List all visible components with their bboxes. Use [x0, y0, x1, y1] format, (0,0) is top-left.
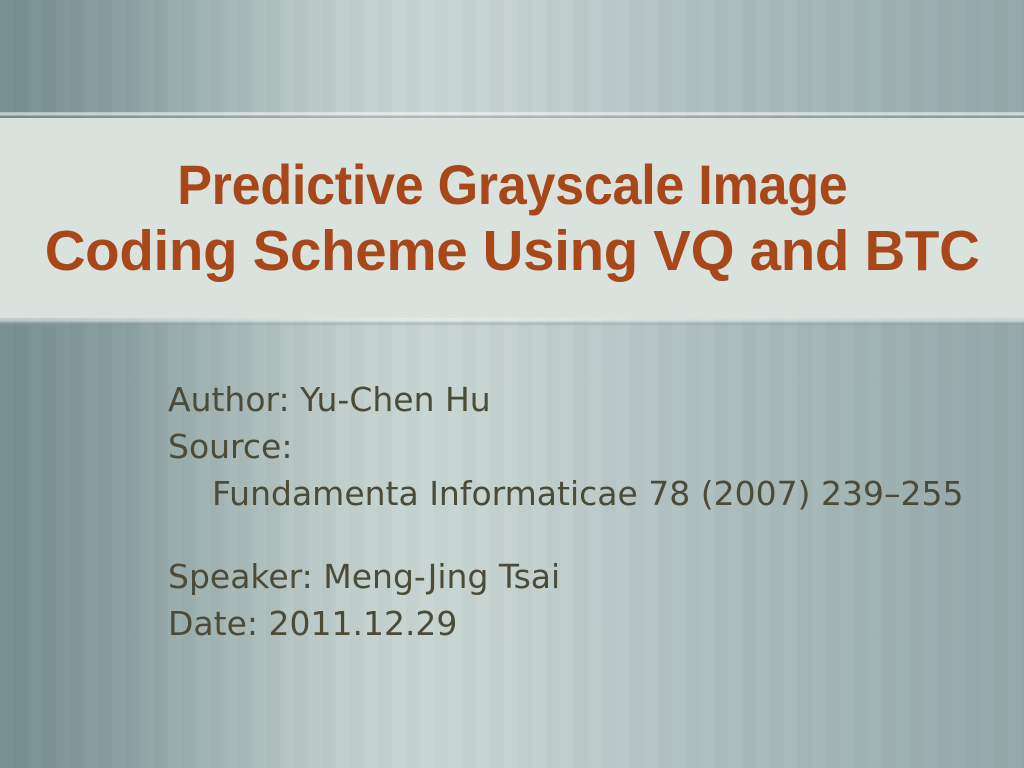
slide-body: Author: Yu-Chen Hu Source: Fundamenta In…: [168, 376, 1008, 647]
slide-title-line-1: Predictive Grayscale Image: [177, 152, 847, 218]
source-label: Source:: [168, 423, 1008, 470]
author-line: Author: Yu-Chen Hu: [168, 376, 1008, 423]
presentation-slide: Predictive Grayscale Image Coding Scheme…: [0, 0, 1024, 768]
source-citation: Fundamenta Informaticae 78 (2007) 239–25…: [168, 470, 1008, 517]
title-band-bottom-edge: [0, 318, 1024, 326]
speaker-line: Speaker: Meng-Jing Tsai: [168, 553, 1008, 600]
date-line: Date: 2011.12.29: [168, 600, 1008, 647]
slide-title-line-2: Coding Scheme Using VQ and BTC: [45, 218, 980, 284]
body-paragraph-gap: [168, 517, 1008, 553]
title-band: Predictive Grayscale Image Coding Scheme…: [0, 118, 1024, 318]
